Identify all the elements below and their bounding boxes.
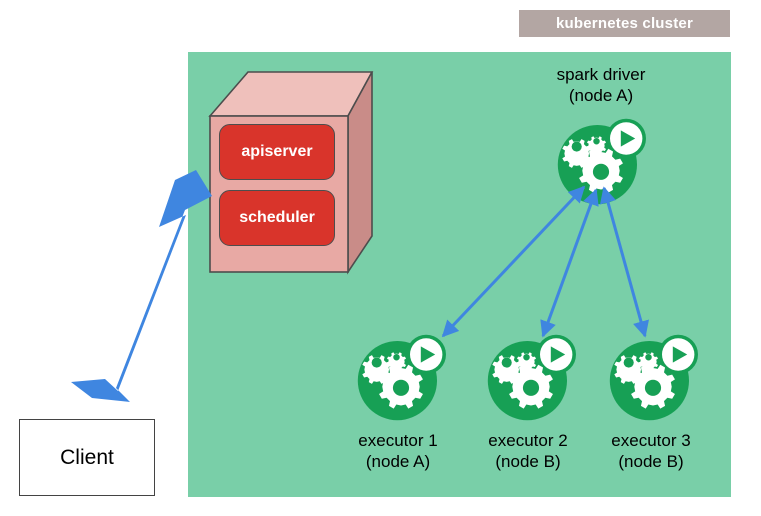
spark-submit-arrow	[71, 170, 212, 402]
component-apiserver[interactable]: apiserver	[219, 124, 335, 180]
executor-2-label-line1: executor 2	[488, 430, 567, 451]
executor-2-label-line2: (node B)	[488, 451, 567, 472]
component-scheduler-label: scheduler	[239, 209, 315, 227]
diagram-canvas: kubernetes cluster	[0, 0, 761, 516]
spark-driver-label: spark driver (node A)	[557, 64, 646, 106]
arrow-driver-executor-2	[543, 190, 596, 336]
spark-driver-icon	[558, 119, 646, 205]
client-label: Client	[60, 446, 114, 470]
component-apiserver-label: apiserver	[241, 143, 312, 161]
executor-1-label-line2: (node A)	[358, 451, 437, 472]
executor-2-icon	[488, 335, 576, 421]
executor-3-icon	[610, 335, 698, 421]
arrow-driver-executor-3	[604, 188, 645, 336]
arrow-driver-executor-1	[443, 187, 584, 336]
spark-driver-label-line1: spark driver	[557, 64, 646, 85]
executor-3-label: executor 3 (node B)	[611, 430, 690, 472]
component-scheduler[interactable]: scheduler	[219, 190, 335, 246]
executor-1-label: executor 1 (node A)	[358, 430, 437, 472]
control-plane-components: apiserver scheduler	[196, 66, 371, 281]
client-box[interactable]: Client	[19, 419, 155, 496]
executor-1-label-line1: executor 1	[358, 430, 437, 451]
executor-3-label-line1: executor 3	[611, 430, 690, 451]
executor-1-icon	[358, 335, 446, 421]
executor-2-label: executor 2 (node B)	[488, 430, 567, 472]
executor-3-label-line2: (node B)	[611, 451, 690, 472]
spark-driver-label-line2: (node A)	[557, 85, 646, 106]
